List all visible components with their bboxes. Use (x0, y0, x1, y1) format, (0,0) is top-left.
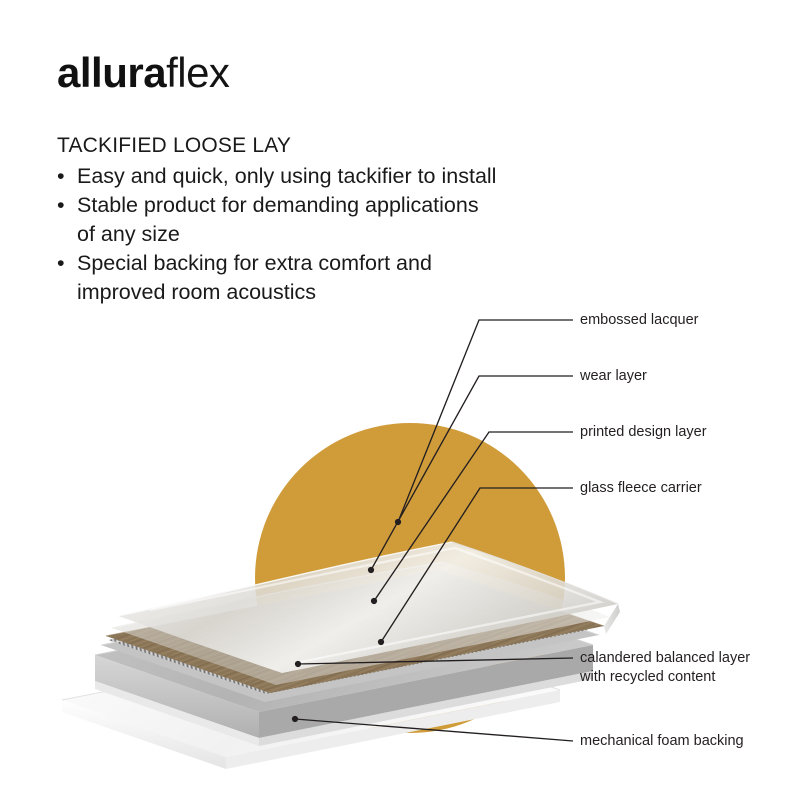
slab-right-edge-highlight (604, 604, 620, 634)
callout-label-glass-fleece-carrier: glass fleece carrier (580, 479, 702, 498)
callout-label-wear-layer: wear layer (580, 367, 647, 386)
callout-label-line2: with recycled content (580, 669, 715, 685)
callout-label-embossed-lacquer: embossed lacquer (580, 311, 699, 330)
callout-label-line1: calandered balanced layer (580, 650, 750, 666)
layer-stack (62, 542, 620, 769)
callout-label-mechanical-foam-backing: mechanical foam backing (580, 732, 744, 751)
product-layer-diagram-page: alluraflex TACKIFIED LOOSE LAY • Easy an… (0, 0, 800, 800)
callout-label-printed-design-layer: printed design layer (580, 423, 707, 442)
callout-label-calandered-balanced-layer: calandered balanced layer with recycled … (580, 649, 750, 687)
